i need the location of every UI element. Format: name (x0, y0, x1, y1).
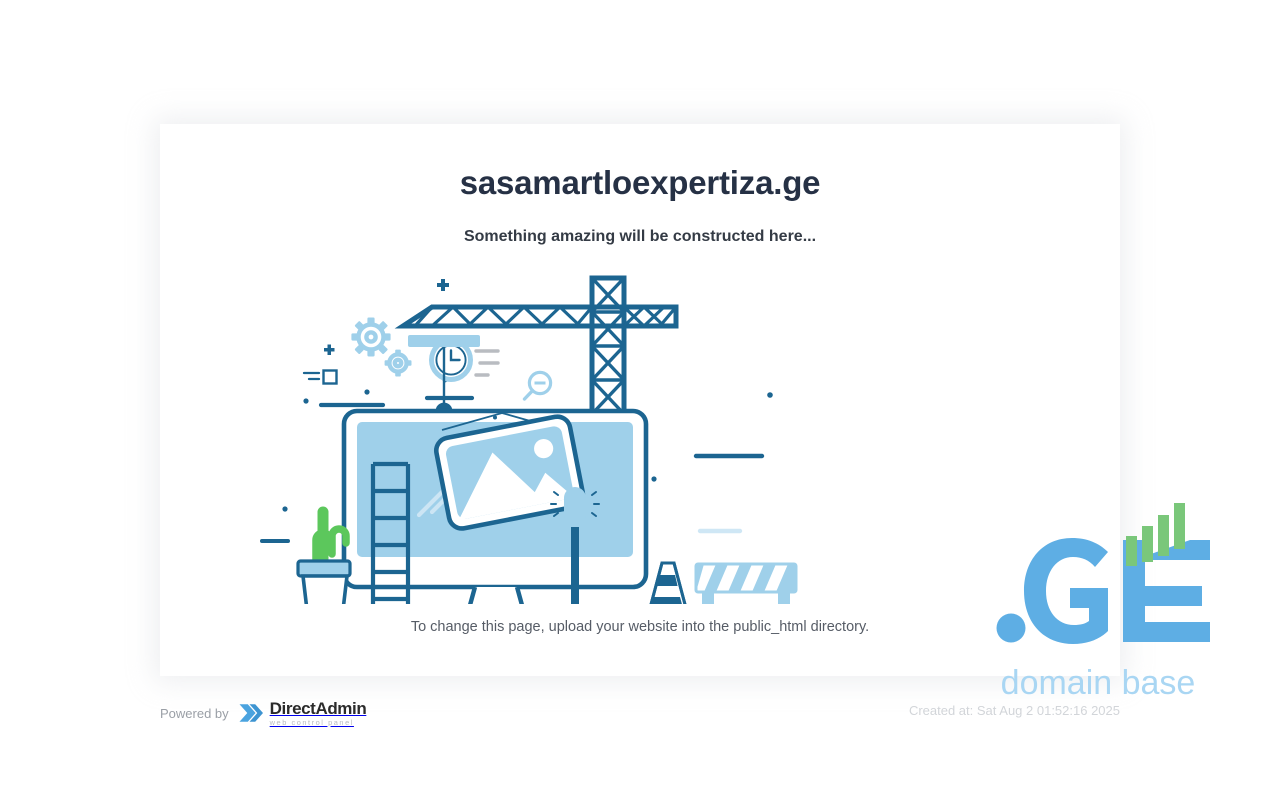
directadmin-logo-link[interactable]: DirectAdmin web control panel (238, 700, 367, 726)
directadmin-wordmark: DirectAdmin web control panel (270, 700, 367, 726)
default-page: sasamartloexpertiza.ge Something amazing… (0, 0, 1280, 800)
page-title: sasamartloexpertiza.ge (160, 164, 1120, 202)
powered-by-block: Powered by DirectAdmin web control panel (160, 700, 366, 726)
upload-instruction: To change this page, upload your website… (160, 619, 1120, 635)
ge-domain-base-watermark: domain base (986, 498, 1210, 708)
page-footer: Powered by DirectAdmin web control panel… (160, 676, 1120, 742)
directadmin-brand-tagline: web control panel (270, 719, 367, 726)
directadmin-brand-name: DirectAdmin (270, 700, 367, 717)
page-subtitle: Something amazing will be constructed he… (160, 228, 1120, 246)
content-card: sasamartloexpertiza.ge Something amazing… (160, 124, 1120, 676)
under-construction-illustration (240, 264, 1040, 604)
watermark-subtext: domain base (1001, 664, 1196, 702)
powered-by-label: Powered by (160, 706, 229, 721)
directadmin-chevron-icon (238, 700, 264, 726)
